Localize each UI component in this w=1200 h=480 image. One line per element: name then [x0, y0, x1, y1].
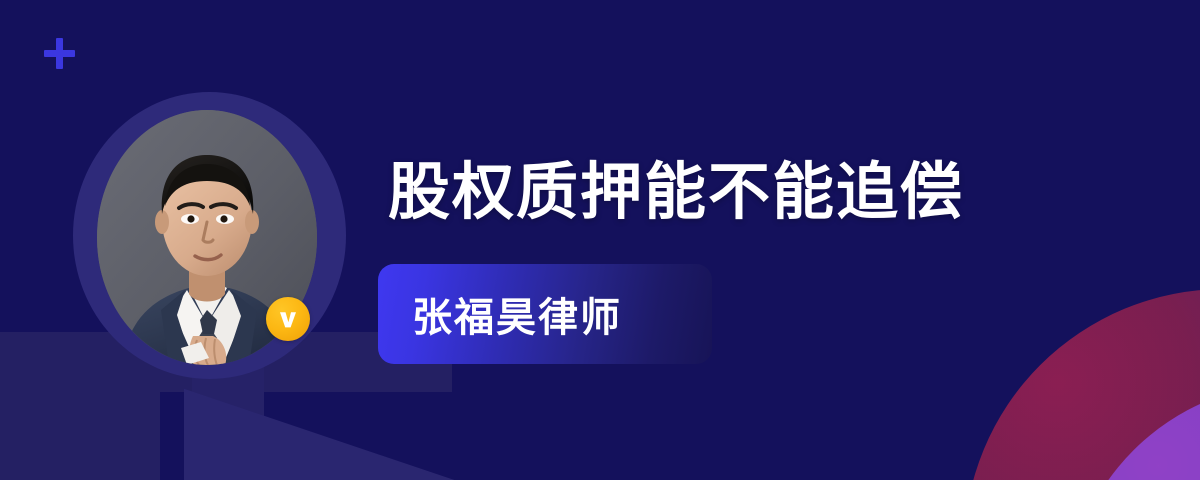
- page-title: 股权质押能不能追偿: [388, 162, 964, 224]
- speaker-name-badge[interactable]: 张福昊律师: [378, 264, 712, 364]
- avatar: [73, 92, 346, 379]
- verified-badge-icon: [266, 297, 310, 341]
- video-cover-banner: 股权质押能不能追偿 张福昊律师: [0, 0, 1200, 480]
- plus-icon: [44, 38, 75, 69]
- speaker-name-label: 张福昊律师: [378, 285, 622, 343]
